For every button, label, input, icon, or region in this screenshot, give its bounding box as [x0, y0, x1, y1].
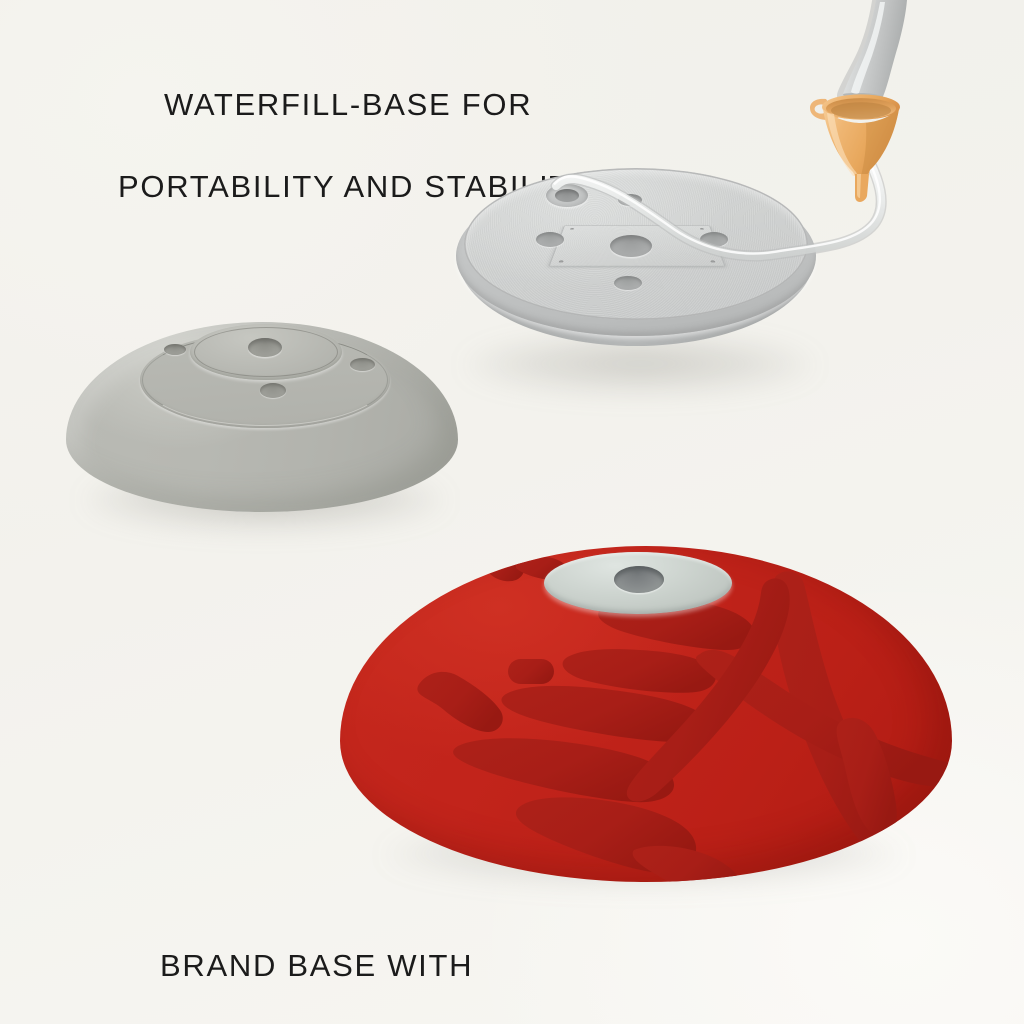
waterfill-hole-west	[536, 232, 564, 247]
stroke-h1	[417, 672, 502, 732]
plate-screw-bottom-left	[559, 261, 564, 263]
red-brand-base-center-hole	[614, 566, 664, 593]
funnel-bowl-inner-shade	[831, 102, 891, 118]
gray-dome-hole-front	[260, 383, 286, 398]
funnel-cone	[823, 109, 899, 176]
plate-screw-top-left	[570, 228, 574, 230]
gray-pour-nozzle	[843, 0, 907, 117]
gray-dome-center-hole	[248, 338, 282, 357]
stroke-h7	[633, 846, 743, 882]
caption-bottom: BRAND BASE WITH PULL-OVER FABRIC GRAPHIC	[74, 905, 561, 1024]
upper-tube-shadow	[849, 2, 884, 96]
funnel-handle	[810, 99, 842, 120]
waterfill-hole-east	[700, 232, 728, 247]
stroke-h2	[563, 649, 716, 693]
caption-top-line1: WATERFILL-BASE FOR	[164, 85, 592, 126]
waterfill-hole-south	[614, 276, 642, 290]
red-brand-base	[336, 540, 960, 888]
funnel-rim	[822, 94, 900, 119]
funnel-cone-shade	[861, 109, 899, 176]
nozzle-tip-vane	[856, 96, 866, 116]
infographic-canvas: WATERFILL-BASE FOR PORTABILITY AND STABI…	[0, 0, 1024, 1024]
waterfill-hole-north	[618, 194, 642, 206]
funnel-bowl-interior	[826, 98, 896, 119]
funnel-spout-highlight	[857, 174, 861, 198]
waterfill-base-shadow	[464, 338, 816, 394]
caption-bottom-line1: BRAND BASE WITH	[160, 946, 561, 987]
gray-dome-hole-left	[164, 344, 186, 355]
funnel-handle-hole	[815, 104, 828, 113]
plate-screw-bottom-right	[710, 261, 715, 263]
waterfill-tube-entry-bore	[555, 189, 579, 202]
nozzle-tip	[843, 93, 882, 117]
funnel-spout	[855, 174, 869, 202]
gray-dome-cover	[62, 296, 462, 546]
plate-screw-top-right	[700, 228, 704, 230]
waterfill-base-disc	[452, 142, 834, 394]
nozzle-highlight	[851, 2, 885, 94]
waterfill-center-hole	[610, 235, 652, 257]
stroke-dot-1	[508, 659, 554, 684]
gray-dome-hole-right	[350, 358, 375, 371]
